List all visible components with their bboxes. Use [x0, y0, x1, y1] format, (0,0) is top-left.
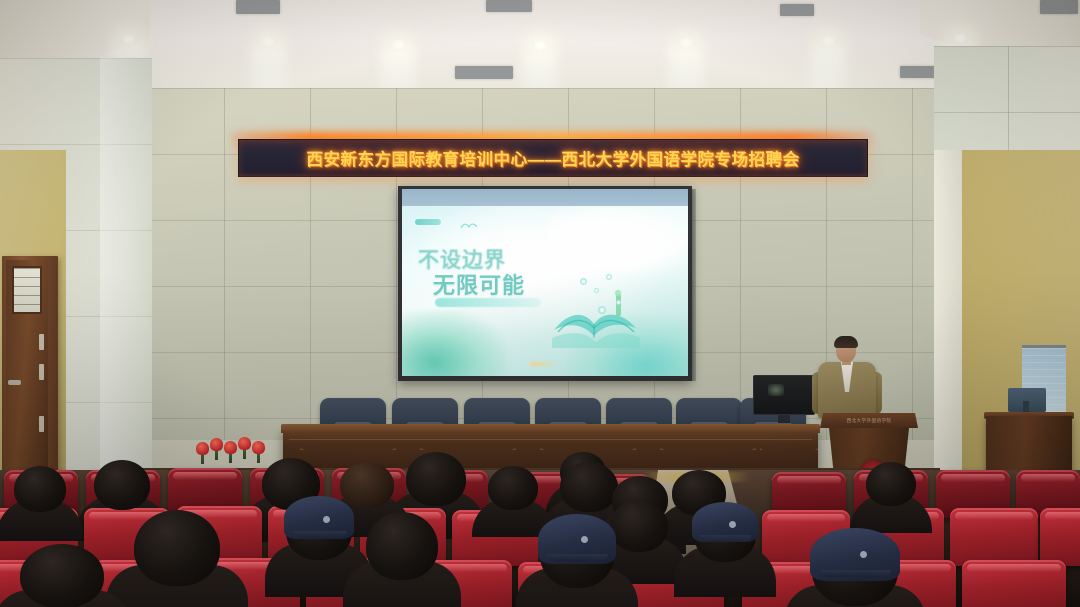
stage-monitor-stand	[778, 415, 790, 423]
hvac-vent-icon	[486, 0, 532, 12]
slide-accent-bar	[415, 219, 441, 225]
slide-accent-dash	[530, 362, 560, 366]
open-book-icon	[550, 288, 642, 348]
table-panel-chevron	[660, 448, 756, 466]
audience-member-head	[94, 460, 150, 510]
hvac-vent-icon	[455, 66, 513, 79]
door-leaf	[6, 260, 48, 484]
slide-sparkle	[594, 288, 599, 293]
hvac-vent-icon	[780, 4, 814, 16]
downlight-icon	[120, 34, 137, 46]
monitor-glint	[768, 384, 784, 396]
slide-sparkle	[598, 306, 606, 314]
slide-sparkle	[616, 300, 621, 305]
slide-cloud-graphic	[548, 206, 688, 270]
audience-seat[interactable]	[950, 508, 1038, 566]
cap-brim	[547, 554, 608, 561]
screen-side-shadow	[688, 189, 696, 381]
downlight-icon	[678, 37, 695, 49]
slide-sparkle	[606, 274, 612, 280]
cap-brim	[821, 570, 892, 577]
downlight-icon	[390, 39, 407, 51]
audience-member-head	[406, 452, 466, 506]
audience-member-head	[20, 544, 104, 607]
auditorium-photo: 西安新东方国际教育培训中心——西北大学外国语学院专场招聘会 不设边界 无限可能	[0, 0, 1080, 607]
right-wall-light-strip	[934, 150, 962, 490]
hvac-vent-icon	[236, 0, 280, 14]
cap-logo-icon	[729, 521, 736, 528]
flower-icon	[196, 442, 209, 455]
speaker-torso	[818, 362, 876, 418]
door-hinge-icon	[39, 364, 44, 380]
door-window-bars	[14, 268, 40, 312]
av-control-desk	[986, 416, 1072, 478]
led-banner-text: 西安新东方国际教育培训中心——西北大学外国语学院专场招聘会	[307, 146, 800, 170]
hvac-vent-icon	[1040, 0, 1078, 14]
door-hinge-icon	[39, 334, 44, 350]
audience-member-head	[340, 462, 394, 508]
flower-icon	[224, 441, 237, 454]
slide-bird-icon	[460, 222, 478, 230]
downlight-icon	[820, 35, 837, 47]
audience-seat[interactable]	[1040, 508, 1080, 566]
speaker-shirt	[841, 362, 853, 392]
slide-headline-line2: 无限可能	[433, 268, 525, 300]
downlight-icon	[532, 40, 549, 52]
door-hinge-icon	[39, 416, 44, 432]
door-handle-icon[interactable]	[8, 380, 21, 385]
speaker-hair	[834, 336, 858, 348]
cap-brim	[293, 531, 347, 538]
presentation-slide: 不设边界 无限可能	[402, 206, 688, 376]
led-banner: 西安新东方国际教育培训中心——西北大学外国语学院专场招聘会	[238, 139, 868, 177]
audience-member-head	[866, 462, 916, 506]
audience-seat[interactable]	[962, 560, 1066, 607]
ceiling	[0, 0, 1080, 92]
audience-member-head	[560, 462, 618, 512]
slide-sparkle	[580, 278, 587, 285]
audience-member-head	[610, 500, 668, 552]
downlight-icon	[952, 33, 969, 45]
led-banner-reflection	[238, 176, 868, 186]
cap-logo-icon	[323, 516, 330, 523]
table-panel-chevron	[760, 448, 818, 466]
podium-label: 西北大学外国语学院	[830, 416, 908, 425]
cap-brim	[700, 535, 751, 542]
flower-icon	[238, 437, 251, 450]
downlight-icon	[260, 36, 277, 48]
door-window	[12, 266, 42, 314]
audience-member-head	[488, 466, 538, 510]
left-wall-edge	[100, 58, 152, 488]
audience-member-head	[14, 466, 66, 512]
table-panel-chevron	[300, 448, 396, 466]
audience-member-head	[366, 512, 438, 580]
flower-icon	[210, 438, 223, 451]
slide-underline-bar	[435, 298, 541, 307]
flower-icon	[252, 441, 265, 454]
audience-member-head	[134, 510, 220, 586]
slide-foliage-left	[402, 310, 506, 376]
side-entrance-door[interactable]	[2, 256, 58, 484]
stage-monitor	[753, 375, 815, 415]
stage-table-edge-line	[289, 439, 812, 440]
